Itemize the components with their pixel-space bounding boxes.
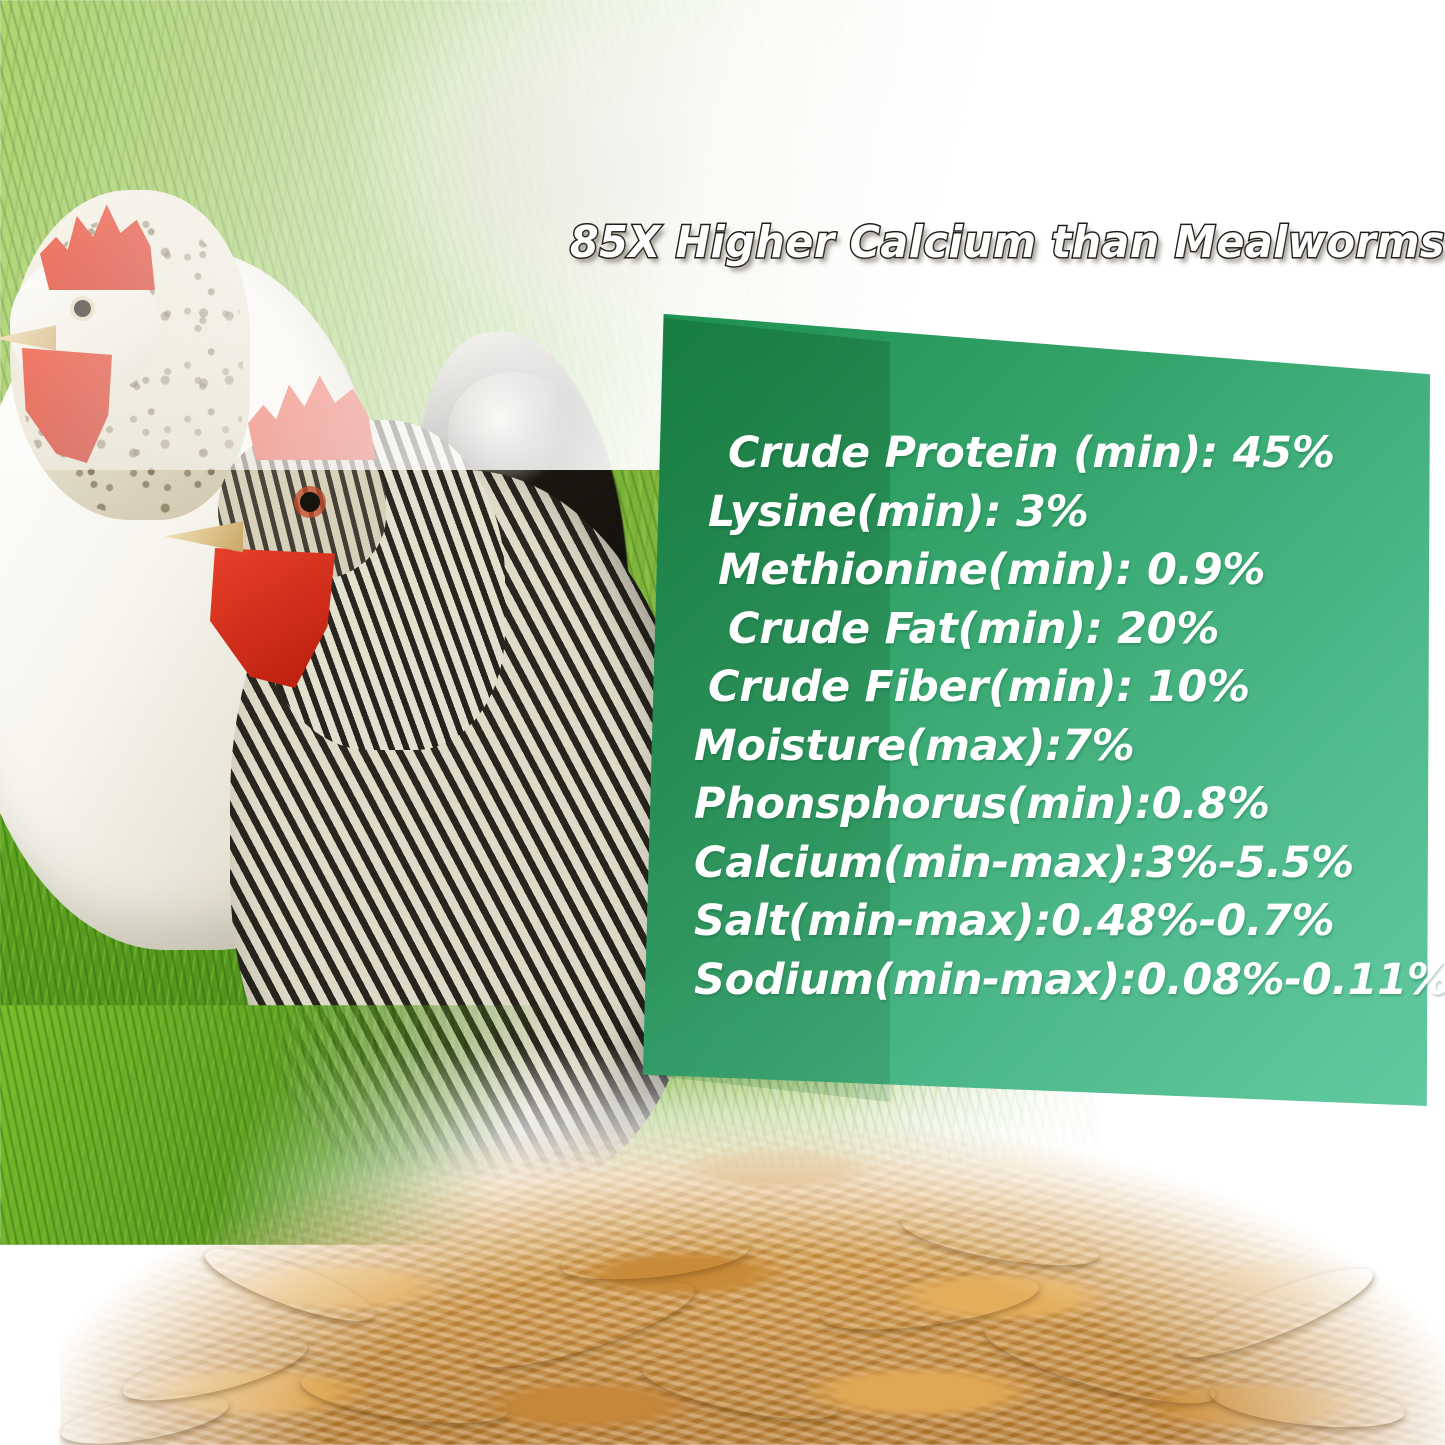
nutrition-row: Sodium(min-max):0.08%-0.11% [694, 951, 1434, 1010]
product-infographic: Guaranteed Analysis 85X Higher Calcium t… [0, 0, 1445, 1445]
nutrition-row: Crude Protein (min): 45% [694, 424, 1434, 483]
nutrition-row: Salt(min-max):0.48%-0.7% [694, 892, 1434, 951]
nutrition-row: Lysine(min): 3% [694, 483, 1434, 542]
larva [199, 1235, 382, 1334]
larva [298, 1359, 512, 1434]
larva [1208, 1371, 1407, 1435]
page-subtitle-container: 85X Higher Calcium than Mealworms [300, 216, 1445, 278]
nutrition-list: Crude Protein (min): 45%Lysine(min): 3%M… [694, 424, 1434, 1009]
larva [558, 1227, 751, 1287]
nutrition-row: Crude Fiber(min): 10% [694, 658, 1434, 717]
barred-hen-eye [300, 492, 320, 512]
page-subtitle: 85X Higher Calcium than Mealworms [570, 216, 1445, 270]
larvae-detail-layer [0, 1115, 1445, 1445]
larva [638, 1347, 843, 1432]
nutrition-row: Crude Fat(min): 20% [694, 600, 1434, 659]
nutrition-row: Methionine(min): 0.9% [694, 541, 1434, 600]
nutrition-row: Calcium(min-max):3%-5.5% [694, 834, 1434, 893]
larva [978, 1307, 1222, 1419]
nutrition-row: Moisture(max):7% [694, 717, 1434, 776]
nutrition-row: Phonsphorus(min):0.8% [694, 775, 1434, 834]
larva [898, 1202, 1102, 1276]
larva [1169, 1253, 1380, 1372]
page-title: Guaranteed Analysis [342, 58, 1445, 176]
page-title-container: Guaranteed Analysis [255, 58, 1445, 188]
